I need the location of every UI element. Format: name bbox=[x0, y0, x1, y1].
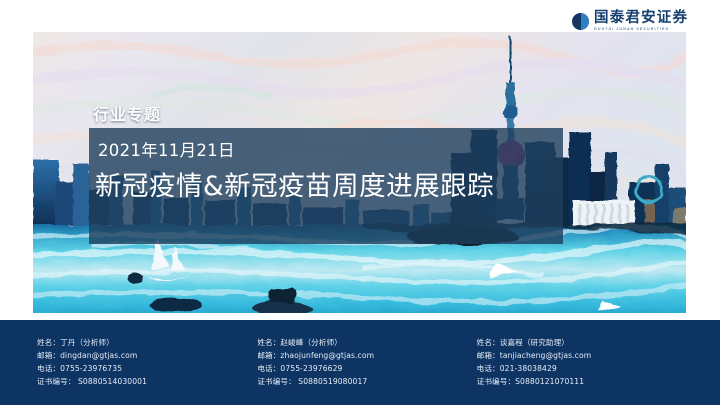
contact-footer: 姓名：丁丹（分析师） 邮箱：dingdan@gtjas.com 电话：0755-… bbox=[0, 320, 720, 405]
contact-name: 姓名：赵峻峰（分析师） bbox=[257, 336, 476, 349]
contact-phone: 电话：0755-23976735 bbox=[37, 362, 257, 375]
contact-cert-number: 证书编号： S0880514030001 bbox=[37, 375, 257, 388]
contact-name: 姓名：丁丹（分析师） bbox=[37, 336, 257, 349]
brand-logo: 国泰君安证券 GUOTAI JUNAN SECURITIES bbox=[572, 11, 688, 31]
brand-wordmark: 国泰君安证券 GUOTAI JUNAN SECURITIES bbox=[594, 11, 688, 31]
contact-cert-number: 证书编号：S0880121070111 bbox=[477, 375, 697, 388]
brand-name-cn: 国泰君安证券 bbox=[594, 11, 688, 26]
contact-phone: 电话：021-38038429 bbox=[477, 362, 697, 375]
contact-email[interactable]: 邮箱：dingdan@gtjas.com bbox=[37, 349, 257, 362]
report-cover-slide: 国泰君安证券 GUOTAI JUNAN SECURITIES bbox=[0, 0, 720, 405]
contact-phone: 电话：0755-23976629 bbox=[257, 362, 476, 375]
contact-name: 姓名：谈嘉程（研究助理） bbox=[477, 336, 697, 349]
page-title: 新冠疫情&新冠疫苗周度进展跟踪 bbox=[95, 164, 494, 203]
guotai-junan-circle-logo-icon bbox=[572, 13, 589, 30]
contact-column-1: 姓名：丁丹（分析师） 邮箱：dingdan@gtjas.com 电话：0755-… bbox=[37, 336, 257, 388]
contact-email[interactable]: 邮箱：zhaojunfeng@gtjas.com bbox=[257, 349, 476, 362]
brand-name-en: GUOTAI JUNAN SECURITIES bbox=[594, 28, 688, 32]
contact-email[interactable]: 邮箱：tanjiacheng@gtjas.com bbox=[477, 349, 697, 362]
contact-columns: 姓名：丁丹（分析师） 邮箱：dingdan@gtjas.com 电话：0755-… bbox=[37, 336, 697, 388]
page-kicker: 行业专题 bbox=[93, 101, 161, 125]
contact-column-3: 姓名：谈嘉程（研究助理） 邮箱：tanjiacheng@gtjas.com 电话… bbox=[477, 336, 697, 388]
contact-cert-number: 证书编号： S0880519080017 bbox=[257, 375, 476, 388]
contact-column-2: 姓名：赵峻峰（分析师） 邮箱：zhaojunfeng@gtjas.com 电话：… bbox=[257, 336, 476, 388]
report-date: 2021年11月21日 bbox=[98, 137, 235, 161]
